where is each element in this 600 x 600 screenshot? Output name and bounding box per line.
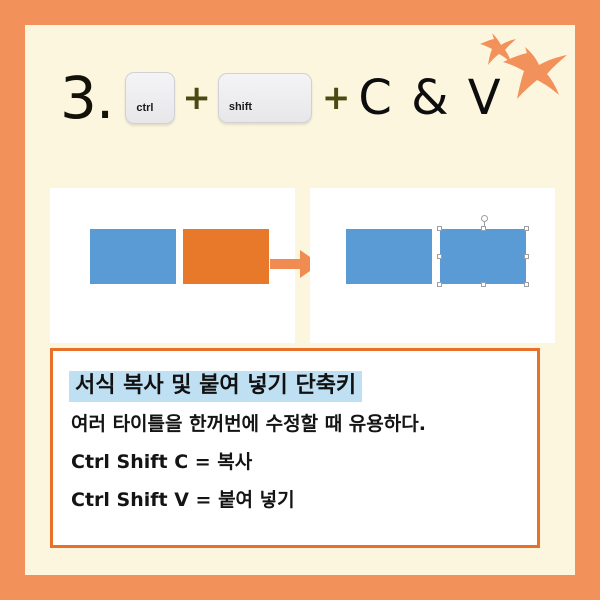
resize-handle-bottom-right[interactable] xyxy=(524,282,529,287)
instruction-card: 3. ctrl + shift + C & V xyxy=(0,0,600,600)
resize-handle-middle-left[interactable] xyxy=(437,254,442,259)
before-panel xyxy=(50,188,295,343)
plus-sign-2: + xyxy=(322,81,351,115)
tip-title: 서식 복사 및 붙여 넣기 단축키 xyxy=(69,371,362,402)
after-panel xyxy=(310,188,555,343)
resize-handle-top-center[interactable] xyxy=(481,226,486,231)
tip-shortcut-copy: Ctrl Shift C = 복사 xyxy=(71,451,537,475)
selection-frame xyxy=(440,229,526,284)
resize-handle-top-right[interactable] xyxy=(524,226,529,231)
tip-box: 서식 복사 및 붙여 넣기 단축키 여러 타이틀을 한꺼번에 수정할 때 유용하… xyxy=(50,348,540,548)
tip-description: 여러 타이틀을 한꺼번에 수정할 때 유용하다. xyxy=(71,413,537,437)
shift-key-label: shift xyxy=(229,101,252,113)
rotation-handle[interactable] xyxy=(481,215,488,222)
ctrl-key[interactable]: ctrl xyxy=(125,72,175,124)
shortcut-header: 3. ctrl + shift + C & V xyxy=(60,58,503,138)
resize-handle-middle-right[interactable] xyxy=(524,254,529,259)
step-number: 3. xyxy=(60,69,113,127)
ctrl-key-label: ctrl xyxy=(136,102,153,114)
tip-shortcut-paste: Ctrl Shift V = 붙여 넣기 xyxy=(71,489,537,513)
plus-sign-1: + xyxy=(182,81,211,115)
resize-handle-top-left[interactable] xyxy=(437,226,442,231)
resize-handle-bottom-center[interactable] xyxy=(481,282,486,287)
shift-key[interactable]: shift xyxy=(218,73,312,123)
orange-rectangle[interactable] xyxy=(183,229,269,284)
card-canvas: 3. ctrl + shift + C & V xyxy=(25,25,575,575)
key-combo-letters: C & V xyxy=(358,74,502,122)
blue-rectangle[interactable] xyxy=(90,229,176,284)
resize-handle-bottom-left[interactable] xyxy=(437,282,442,287)
blue-rectangle[interactable] xyxy=(346,229,432,284)
